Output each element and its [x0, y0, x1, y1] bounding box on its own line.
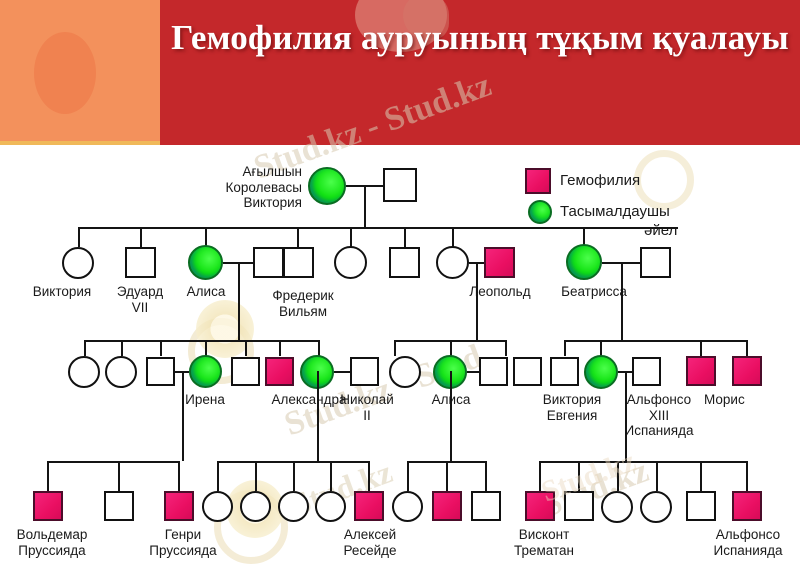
child-drop [394, 340, 396, 356]
child-drop [450, 340, 452, 356]
child-drop [279, 340, 281, 356]
person-gen2-son-1[interactable] [389, 247, 420, 278]
person-gen4-daughter-3[interactable] [278, 491, 309, 522]
child-drop [205, 227, 207, 247]
person-label-voldemar: Вольдемар Пруссияда [6, 527, 98, 558]
child-drop [746, 340, 748, 356]
child-drop [452, 227, 454, 247]
person-nikolai-ii[interactable] [350, 357, 379, 386]
person-label-alfonso-ispaniyada: Альфонсо Испанияда [700, 527, 796, 558]
person-gen4-son-3[interactable] [564, 491, 594, 521]
person-label-leopold: Леопольд [462, 284, 538, 300]
person-frederik-vilyam[interactable] [283, 247, 314, 278]
person-eduard-vii[interactable] [125, 247, 156, 278]
child-drop [578, 461, 580, 491]
person-label-viskont-trematan: Висконт Трематан [498, 527, 590, 558]
person-gen4-son-4[interactable] [686, 491, 716, 521]
child-drop [140, 227, 142, 247]
child-drop [160, 340, 162, 356]
person-voldemar[interactable] [33, 491, 63, 521]
person-label-eduard-vii: Эдуард VII [104, 284, 176, 315]
descent-line [625, 371, 627, 461]
legend-carrier-label: Тасымалдаушы [560, 203, 670, 220]
mate-line [334, 371, 350, 373]
descent-line [621, 262, 623, 340]
legend-carrier-label-2: әйел [644, 222, 677, 239]
sibship-bar-irena [47, 461, 179, 463]
child-drop [330, 461, 332, 491]
person-gen4-daughter-5[interactable] [392, 491, 423, 522]
descent-line [317, 371, 319, 461]
child-drop [656, 461, 658, 491]
child-drop [539, 461, 541, 491]
person-beatrissa[interactable] [566, 244, 602, 280]
person-gen2-daughter-2[interactable] [436, 246, 469, 279]
descent-line [182, 371, 184, 461]
child-drop [407, 461, 409, 491]
descent-line [364, 185, 366, 227]
sibship-bar-viktoria-evgenia [539, 461, 746, 463]
person-label-genri: Генри Пруссияда [138, 527, 228, 558]
person-label-alfonso-xiii: Альфонсо XIII Испанияда [616, 392, 702, 439]
sibship-bar-gen2 [78, 227, 678, 229]
person-label-nikolai-ii: Николай II [334, 392, 400, 423]
person-beatrissa-spouse[interactable] [640, 247, 671, 278]
child-drop [505, 340, 507, 356]
person-aleksei[interactable] [354, 491, 384, 521]
person-gen4-daughter-1[interactable] [202, 491, 233, 522]
descent-line [238, 262, 240, 340]
person-viktoria[interactable] [62, 247, 94, 279]
legend-carrier-swatch [528, 200, 552, 224]
sibship-bar-alisa [84, 340, 319, 342]
person-gen3-daughter-3[interactable] [389, 356, 421, 388]
person-alisa-gen3-spouse[interactable] [479, 357, 508, 386]
child-drop [600, 340, 602, 356]
child-drop [617, 461, 619, 491]
person-gen3-daughter-2[interactable] [105, 356, 137, 388]
person-label-viktoria: Виктория [26, 284, 98, 300]
page-title: Гемофилия ауруының тұқым қуалауы [160, 14, 800, 62]
child-drop [84, 340, 86, 356]
child-drop [350, 227, 352, 247]
person-viskont-trematan[interactable] [525, 491, 555, 521]
legend-affected-swatch [525, 168, 551, 194]
child-drop [293, 461, 295, 491]
person-label-moris: Морис [704, 392, 780, 408]
child-drop [245, 340, 247, 356]
person-gen3-affected-son-1[interactable] [265, 357, 294, 386]
person-irena[interactable] [189, 355, 222, 388]
legend-affected-label: Гемофилия [560, 172, 640, 189]
person-gen4-son-1[interactable] [104, 491, 134, 521]
person-gen2-daughter-1[interactable] [334, 246, 367, 279]
child-drop [446, 461, 448, 491]
child-drop [318, 340, 320, 356]
header-ellipse-decoration [34, 32, 96, 114]
person-alisa-spouse[interactable] [253, 247, 284, 278]
person-gen4-daughter-4[interactable] [315, 491, 346, 522]
person-gen3-son-2[interactable] [513, 357, 542, 386]
child-drop [746, 461, 748, 491]
person-genri[interactable] [164, 491, 194, 521]
mate-line [467, 371, 479, 373]
person-moris[interactable] [732, 356, 762, 386]
child-drop [564, 340, 566, 356]
person-gen1-spouse[interactable] [383, 168, 417, 202]
slide-header: Гемофилия ауруының тұқым қуалауы [0, 0, 800, 145]
descent-line [476, 262, 478, 340]
person-label-irena: Ирена [162, 392, 248, 408]
watermark-ring-icon [634, 150, 694, 210]
child-drop [217, 461, 219, 491]
child-drop [485, 461, 487, 491]
person-alfonso-xiii[interactable] [632, 357, 661, 386]
person-gen3-son-1[interactable] [231, 357, 260, 386]
person-label-queen-victoria: Ағылшын Королевасы Виктория [182, 164, 302, 211]
child-drop [118, 461, 120, 491]
person-irena-spouse[interactable] [146, 357, 175, 386]
child-drop [404, 227, 406, 247]
person-gen4-daughter-2[interactable] [240, 491, 271, 522]
header-gold-bar [0, 141, 160, 145]
child-drop [297, 227, 299, 247]
child-drop [121, 340, 123, 356]
person-gen3-daughter-1[interactable] [68, 356, 100, 388]
person-leopold[interactable] [484, 247, 515, 278]
person-gen4-affected-son-1[interactable] [432, 491, 462, 521]
watermark-text: Stud.kz - Stud [280, 338, 487, 444]
person-alisa-gen2[interactable] [188, 245, 223, 280]
child-drop [368, 461, 370, 491]
person-gen4-daughter-7[interactable] [640, 491, 672, 523]
person-queen-victoria[interactable] [308, 167, 346, 205]
child-drop [78, 227, 80, 247]
person-label-frederik-vilyam: Фредерик Вильям [262, 288, 344, 319]
person-gen3-affected-son-2[interactable] [686, 356, 716, 386]
person-label-viktoria-evgenia: Виктория Евгения [524, 392, 620, 423]
person-label-aleksei: Алексей Ресейде [326, 527, 414, 558]
child-drop [205, 340, 207, 356]
person-gen3-son-3[interactable] [550, 357, 579, 386]
sibship-bar-beatrissa [564, 340, 746, 342]
person-label-beatrissa: Беатрисса [552, 284, 636, 300]
person-gen4-son-2[interactable] [471, 491, 501, 521]
child-drop [47, 461, 49, 491]
descent-line [450, 371, 452, 461]
child-drop [178, 461, 180, 491]
slide-canvas: Гемофилия ауруының тұқым қуалауы Stud.kz… [0, 0, 800, 578]
person-alfonso-ispaniyada[interactable] [732, 491, 762, 521]
child-drop [700, 461, 702, 491]
child-drop [700, 340, 702, 356]
child-drop [255, 461, 257, 491]
person-gen4-daughter-6[interactable] [601, 491, 633, 523]
person-label-alisa-gen2: Алиса [172, 284, 240, 300]
person-viktoria-evgenia[interactable] [584, 355, 618, 389]
